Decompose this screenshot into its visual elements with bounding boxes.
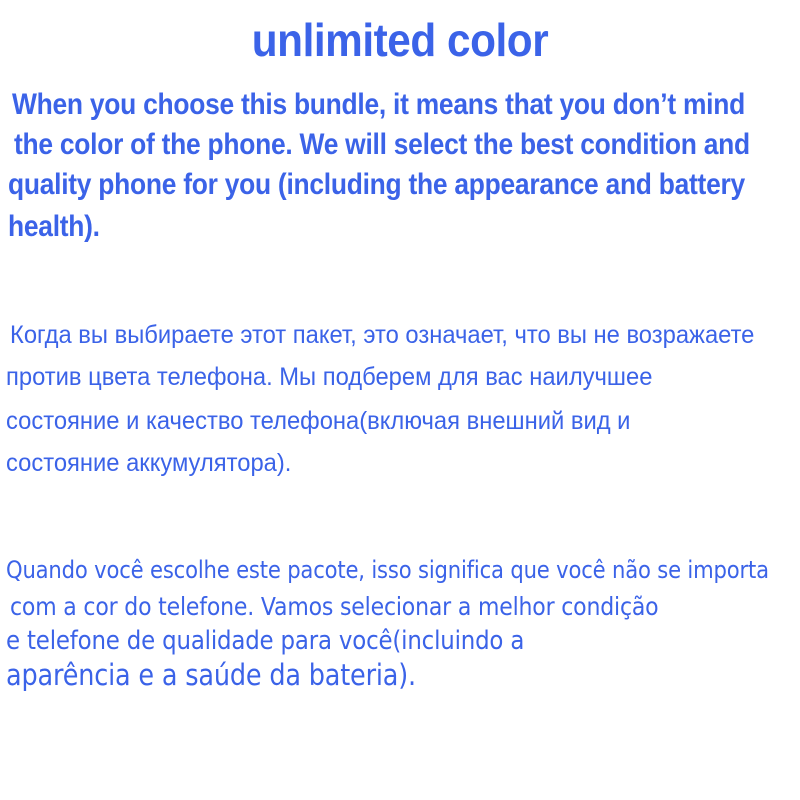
portuguese-line-3: e telefone de qualidade para você(inclui… [6, 626, 524, 656]
russian-line-2: против цвета телефона. Мы подберем для в… [6, 362, 652, 392]
english-line-3: quality phone for you (including the app… [8, 168, 745, 202]
portuguese-line-4: aparência e a saúde da bateria). [6, 658, 416, 692]
promo-banner: unlimited color When you choose this bun… [0, 0, 800, 800]
russian-line-1: Когда вы выбираете этот пакет, это означ… [10, 320, 754, 350]
russian-line-3: состояние и качество телефона(включая вн… [6, 406, 630, 436]
english-line-1: When you choose this bundle, it means th… [12, 88, 745, 122]
english-line-2: the color of the phone. We will select t… [14, 128, 750, 162]
portuguese-line-2: com a cor do telefone. Vamos selecionar … [10, 592, 658, 621]
english-line-4: health). [8, 210, 100, 244]
page-title: unlimited color [32, 12, 768, 68]
portuguese-line-1: Quando você escolhe este pacote, isso si… [6, 556, 769, 584]
russian-line-4: состояние аккумулятора). [6, 448, 291, 478]
